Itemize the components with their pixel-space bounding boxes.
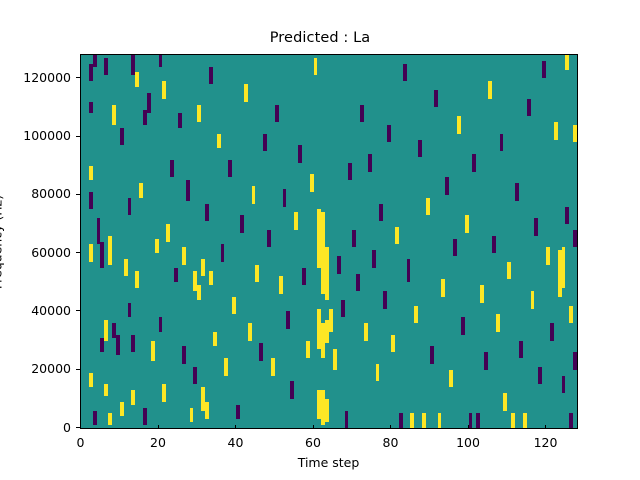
heatmap-cell [480, 285, 484, 302]
heatmap-cell [135, 271, 139, 288]
y-tick-label: 120000 [23, 70, 71, 85]
heatmap-cell [104, 384, 108, 396]
heatmap-cell [248, 323, 252, 340]
heatmap-cell [507, 262, 511, 279]
heatmap-cell [217, 134, 221, 149]
heatmap-cell [550, 323, 554, 340]
heatmap-cell [538, 367, 542, 384]
heatmap-cell [569, 306, 573, 323]
heatmap-cell [89, 166, 93, 181]
y-tick-label: 80000 [31, 186, 71, 201]
x-tick-label: 0 [77, 435, 85, 450]
heatmap-cell [395, 227, 399, 244]
x-tick-mark [80, 425, 81, 429]
heatmap-cell [534, 218, 538, 235]
heatmap-cell [197, 285, 201, 300]
heatmap-cell [178, 113, 182, 128]
heatmap-cell [197, 105, 201, 122]
heatmap-cell [368, 154, 372, 171]
heatmap-cell [100, 242, 104, 268]
heatmap-cell [120, 402, 124, 417]
y-tick-label: 100000 [23, 128, 71, 143]
x-tick-mark [468, 425, 469, 429]
heatmap-cell [213, 332, 217, 347]
heatmap-cell [182, 247, 186, 264]
heatmap-cell [89, 373, 93, 388]
heatmap-cell [341, 300, 345, 317]
heatmap-cell [391, 335, 395, 352]
heatmap-cell [453, 239, 457, 256]
heatmap-cell [387, 125, 391, 142]
heatmap-cell [190, 408, 194, 423]
heatmap-cell [523, 413, 527, 428]
x-tick-mark [158, 425, 159, 429]
heatmap-cells [81, 55, 577, 428]
heatmap-cell [159, 317, 163, 332]
heatmap-cell [407, 259, 411, 282]
heatmap-cell [162, 384, 166, 401]
x-tick-label: 100 [456, 435, 480, 450]
y-tick-label: 60000 [31, 245, 71, 260]
heatmap-cell [89, 102, 93, 114]
heatmap-cell [108, 413, 112, 425]
heatmap-cell [348, 163, 352, 180]
heatmap-cell [325, 247, 329, 299]
heatmap-cell [93, 55, 97, 67]
heatmap-cell [515, 183, 519, 200]
heatmap-cell [89, 192, 93, 209]
heatmap-cell [205, 402, 209, 419]
heatmap-cell [441, 279, 445, 296]
heatmap-cell [565, 207, 569, 224]
heatmap-cell [352, 230, 356, 247]
heatmap-cell [445, 177, 449, 194]
heatmap-cell [457, 116, 461, 133]
heatmap-cell [128, 303, 132, 318]
heatmap-cell [267, 230, 271, 247]
y-tick-label: 20000 [31, 361, 71, 376]
heatmap-cell [221, 244, 225, 261]
heatmap-cell [252, 186, 256, 203]
heatmap-cell [364, 323, 368, 340]
heatmap-cell [314, 58, 318, 75]
x-tick-label: 120 [534, 435, 558, 450]
heatmap-cell [97, 218, 101, 244]
heatmap-cell [310, 174, 314, 191]
heatmap-cell [120, 128, 124, 145]
heatmap-cell [283, 189, 287, 206]
heatmap-cell [469, 413, 473, 428]
heatmap-cell [205, 204, 209, 221]
heatmap-cell [360, 105, 364, 122]
heatmap-cell [147, 93, 151, 113]
x-tick-mark [235, 425, 236, 429]
heatmap-cell [472, 154, 476, 171]
y-tick-label: 40000 [31, 303, 71, 318]
heatmap-cell [302, 268, 306, 285]
heatmap-cell [306, 341, 310, 358]
heatmap-cell [403, 64, 407, 81]
heatmap-cell [531, 291, 535, 308]
heatmap-cell [201, 259, 205, 276]
heatmap-cell [372, 250, 376, 267]
heatmap-cell [519, 341, 523, 358]
heatmap-cell [383, 291, 387, 308]
heatmap-cell [333, 349, 337, 369]
heatmap-cell [166, 224, 170, 241]
heatmap-cell [511, 413, 515, 428]
heatmap-cell [484, 352, 488, 369]
chart-title: Predicted : La [0, 30, 640, 46]
heatmap-cell [430, 346, 434, 363]
x-tick-label: 60 [305, 435, 321, 450]
heatmap-cell [562, 247, 566, 288]
heatmap-cell [162, 81, 166, 98]
heatmap-cell [434, 90, 438, 107]
heatmap-cell [461, 317, 465, 334]
heatmap-cell [108, 236, 112, 265]
heatmap-cell [573, 230, 577, 247]
heatmap-cell [236, 405, 240, 420]
heatmap-cell [240, 215, 244, 232]
heatmap-cell [135, 72, 139, 87]
heatmap-cell [271, 358, 275, 375]
heatmap-cell [286, 311, 290, 328]
heatmap-cell [496, 314, 500, 331]
heatmap-cell [139, 183, 143, 198]
x-tick-label: 40 [228, 435, 244, 450]
heatmap-cell [298, 145, 302, 162]
matplotlib-figure: Predicted : La Frequency (Hz) 0200004000… [0, 0, 640, 480]
heatmap-cell [255, 265, 259, 282]
heatmap-cell [209, 271, 213, 286]
heatmap-cell [573, 125, 577, 142]
heatmap-cell [290, 381, 294, 398]
heatmap-cell [186, 180, 190, 200]
x-tick-label: 20 [150, 435, 166, 450]
heatmap-cell [170, 160, 174, 177]
x-tick-mark [313, 425, 314, 429]
heatmap-cell [116, 335, 120, 355]
heatmap-cell [414, 306, 418, 323]
heatmap-axes[interactable] [80, 54, 578, 429]
heatmap-cell [562, 376, 566, 393]
heatmap-cell [159, 55, 163, 67]
heatmap-cell [209, 67, 213, 84]
heatmap-cell [89, 244, 93, 261]
heatmap-cell [93, 411, 97, 426]
heatmap-cell [224, 358, 228, 375]
heatmap-cell [565, 55, 569, 70]
heatmap-cell [174, 268, 178, 283]
heatmap-cell [104, 58, 108, 75]
heatmap-cell [500, 134, 504, 151]
heatmap-cell [124, 259, 128, 276]
heatmap-cell [376, 364, 380, 381]
x-tick-label: 80 [383, 435, 399, 450]
heatmap-cell [151, 341, 155, 361]
heatmap-cell [259, 343, 263, 360]
heatmap-cell [112, 105, 116, 125]
heatmap-cell [503, 393, 507, 410]
heatmap-cell [294, 212, 298, 229]
heatmap-cell [488, 81, 492, 98]
x-tick-mark [390, 425, 391, 429]
heatmap-cell [476, 413, 480, 428]
heatmap-cell [329, 309, 333, 332]
heatmap-cell [244, 84, 248, 101]
heatmap-cell [399, 413, 403, 428]
heatmap-cell [131, 390, 135, 405]
heatmap-cell [410, 413, 414, 428]
heatmap-cell [228, 160, 232, 177]
y-axis: Frequency (Hz) 0200004000060000800001000… [0, 54, 80, 428]
heatmap-cell [345, 411, 349, 428]
x-axis: 020406080100120 [80, 429, 577, 453]
heatmap-cell [546, 247, 550, 264]
heatmap-cell [275, 105, 279, 122]
y-tick-label: 0 [63, 420, 71, 435]
heatmap-cell [337, 256, 341, 273]
heatmap-cell [128, 198, 132, 215]
heatmap-cell [379, 204, 383, 221]
heatmap-cell [569, 413, 573, 428]
heatmap-cell [104, 320, 108, 340]
heatmap-cell [325, 399, 329, 422]
heatmap-cell [527, 99, 531, 116]
heatmap-cell [143, 408, 147, 425]
heatmap-cell [279, 276, 283, 293]
heatmap-cell [418, 140, 422, 157]
heatmap-cell [155, 239, 159, 254]
heatmap-cell [263, 134, 267, 151]
heatmap-cell [193, 367, 197, 384]
heatmap-cell [465, 215, 469, 232]
y-axis-label: Frequency (Hz) [0, 132, 5, 352]
x-tick-mark [545, 425, 546, 429]
heatmap-cell [554, 122, 558, 139]
x-axis-label: Time step [80, 455, 577, 470]
heatmap-cell [492, 236, 496, 253]
heatmap-cell [232, 297, 236, 314]
heatmap-cell [573, 352, 577, 369]
heatmap-cell [449, 370, 453, 387]
heatmap-cell [356, 274, 360, 291]
heatmap-cell [426, 198, 430, 215]
heatmap-cell [182, 346, 186, 363]
heatmap-cell [131, 335, 135, 352]
heatmap-cell [422, 413, 426, 428]
heatmap-cell [542, 61, 546, 78]
heatmap-cell [438, 413, 442, 428]
